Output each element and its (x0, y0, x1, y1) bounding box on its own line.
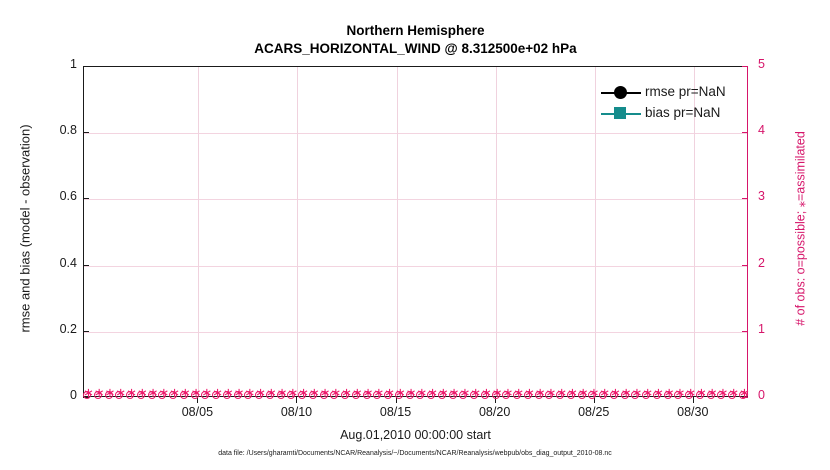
x-axis-tick-label: 08/05 (182, 405, 213, 419)
x-axis-tick-label: 08/10 (281, 405, 312, 419)
gridline-horizontal (84, 266, 747, 267)
y-axis-right-tick-mark (742, 66, 748, 67)
legend-label-rmse: rmse pr=NaN (645, 84, 726, 99)
y-axis-left-tick-label: 0.6 (41, 189, 77, 203)
y-axis-left-tick-mark (83, 331, 89, 332)
y-axis-right-tick-mark (742, 132, 748, 133)
y-axis-left-tick-mark (83, 397, 89, 398)
legend-item-bias[interactable]: bias pr=NaN (601, 103, 741, 124)
x-axis-tick-mark (197, 397, 198, 403)
chart-title-block: Northern Hemisphere ACARS_HORIZONTAL_WIN… (83, 22, 748, 58)
chart-title: Northern Hemisphere (83, 22, 748, 40)
y-axis-left-tick-label: 0.4 (41, 256, 77, 270)
y-axis-left-label: rmse and bias (model - observation) (18, 49, 33, 409)
square-marker-icon (614, 107, 626, 119)
y-axis-right-tick-label: 1 (758, 322, 765, 336)
y-axis-right-tick-label: 4 (758, 123, 765, 137)
gridline-vertical (198, 67, 199, 396)
y-axis-left-tick-label: 0.2 (41, 322, 77, 336)
circle-marker-icon (614, 86, 627, 99)
y-axis-left-tick-mark (83, 265, 89, 266)
y-axis-right-tick-mark (742, 397, 748, 398)
y-axis-right-tick-label: 3 (758, 189, 765, 203)
gridline-vertical (595, 67, 596, 396)
x-axis-tick-mark (296, 397, 297, 403)
x-axis-tick-label: 08/25 (578, 405, 609, 419)
y-axis-left-tick-label: 0.8 (41, 123, 77, 137)
y-axis-right-tick-mark (742, 265, 748, 266)
y-axis-right-tick-label: 0 (758, 388, 765, 402)
y-axis-left-tick-mark (83, 132, 89, 133)
x-axis-tick-label: 08/20 (479, 405, 510, 419)
y-axis-left-tick-label: 1 (41, 57, 77, 71)
y-axis-right-tick-label: 5 (758, 57, 765, 71)
y-axis-left-label-wrap: rmse and bias (model - observation) (0, 66, 1, 397)
legend-label-bias: bias pr=NaN (645, 105, 720, 120)
gridline-vertical (297, 67, 298, 396)
x-axis-tick-label: 08/30 (677, 405, 708, 419)
x-axis-label: Aug.01,2010 00:00:00 start (83, 428, 748, 442)
x-axis-tick-mark (396, 397, 397, 403)
x-axis-tick-mark (594, 397, 595, 403)
y-axis-right-label: # of obs: o=possible; ⁎=assimilated (793, 49, 808, 409)
y-axis-left-tick-label: 0 (41, 388, 77, 402)
x-axis-tick-label: 08/15 (380, 405, 411, 419)
gridline-horizontal (84, 133, 747, 134)
data-file-caption: data file: /Users/gharamti/Documents/NCA… (0, 450, 830, 457)
y-axis-right-label-wrap: # of obs: o=possible; ⁎=assimilated (800, 66, 801, 397)
gridline-horizontal (84, 199, 747, 200)
y-axis-right-tick-label: 2 (758, 256, 765, 270)
y-axis-left-tick-mark (83, 66, 89, 67)
legend-item-rmse[interactable]: rmse pr=NaN (601, 82, 741, 103)
chart-legend: rmse pr=NaN bias pr=NaN (601, 82, 741, 124)
x-axis-tick-mark (693, 397, 694, 403)
gridline-horizontal (84, 332, 747, 333)
chart-figure: Northern Hemisphere ACARS_HORIZONTAL_WIN… (0, 0, 830, 470)
y-axis-right-tick-mark (742, 331, 748, 332)
x-axis-tick-mark (495, 397, 496, 403)
y-axis-left-tick-mark (83, 198, 89, 199)
chart-subtitle: ACARS_HORIZONTAL_WIND @ 8.312500e+02 hPa (83, 40, 748, 58)
y-axis-right-tick-mark (742, 198, 748, 199)
gridline-vertical (397, 67, 398, 396)
gridline-vertical (496, 67, 497, 396)
